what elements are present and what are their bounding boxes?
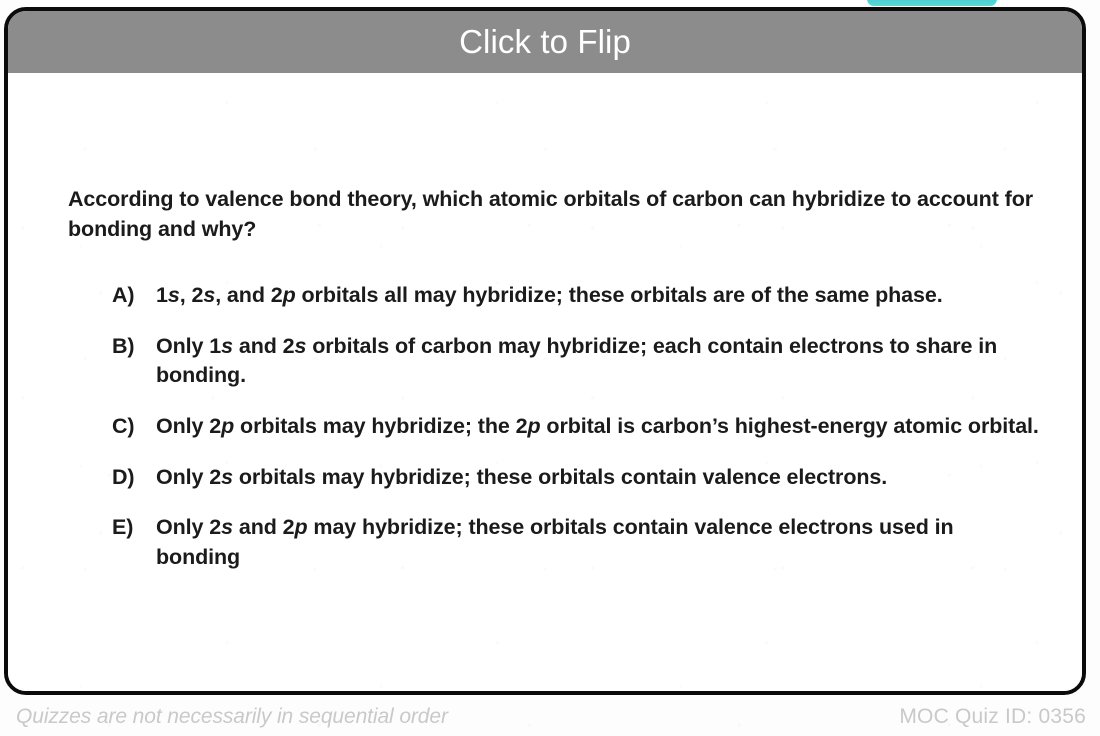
- flashcard[interactable]: Click to Flip According to valence bond …: [4, 7, 1086, 695]
- answer-option-a[interactable]: A) 1s, 2s, and 2p orbitals all may hybri…: [112, 281, 1042, 311]
- option-text: Only 2s and 2p may hybridize; these orbi…: [156, 513, 1042, 572]
- card-header-title: Click to Flip: [459, 25, 631, 60]
- option-letter: B): [112, 332, 156, 362]
- top-tab-accent[interactable]: [867, 0, 997, 6]
- answer-options-list: A) 1s, 2s, and 2p orbitals all may hybri…: [112, 281, 1042, 573]
- answer-option-d[interactable]: D) Only 2s orbitals may hybridize; these…: [112, 463, 1042, 493]
- option-letter: D): [112, 463, 156, 493]
- answer-option-c[interactable]: C) Only 2p orbitals may hybridize; the 2…: [112, 412, 1042, 442]
- option-text: 1s, 2s, and 2p orbitals all may hybridiz…: [156, 281, 1042, 311]
- answer-option-b[interactable]: B) Only 1s and 2s orbitals of carbon may…: [112, 332, 1042, 391]
- footer-note: Quizzes are not necessarily in sequentia…: [16, 705, 448, 729]
- option-letter: E): [112, 513, 156, 543]
- option-letter: A): [112, 281, 156, 311]
- card-header-flip-bar[interactable]: Click to Flip: [8, 11, 1082, 73]
- option-text: Only 1s and 2s orbitals of carbon may hy…: [156, 332, 1042, 391]
- footer: Quizzes are not necessarily in sequentia…: [0, 698, 1100, 736]
- option-text: Only 2p orbitals may hybridize; the 2p o…: [156, 412, 1042, 442]
- question-text: According to valence bond theory, which …: [68, 185, 1046, 244]
- option-text: Only 2s orbitals may hybridize; these or…: [156, 463, 1042, 493]
- option-letter: C): [112, 412, 156, 442]
- card-body: According to valence bond theory, which …: [8, 73, 1082, 691]
- answer-option-e[interactable]: E) Only 2s and 2p may hybridize; these o…: [112, 513, 1042, 572]
- footer-quiz-id: MOC Quiz ID: 0356: [899, 705, 1086, 729]
